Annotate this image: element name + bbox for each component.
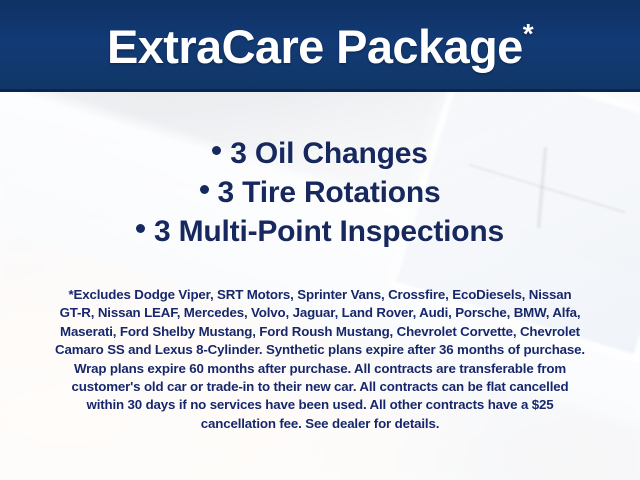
header-banner: ExtraCare Package* [0, 0, 640, 92]
disclaimer-line: Maserati, Ford Shelby Mustang, Ford Rous… [0, 323, 640, 341]
bullet-dot-icon [136, 224, 145, 233]
disclaimer-line: cancellation fee. See dealer for details… [0, 415, 640, 433]
benefits-list: 3 Oil Changes 3 Tire Rotations 3 Multi-P… [0, 134, 640, 251]
disclaimer-line: Wrap plans expire 60 months after purcha… [0, 360, 640, 378]
page-title-text: ExtraCare Package [107, 20, 523, 73]
benefit-label: 3 Multi-Point Inspections [154, 215, 504, 248]
list-item: 3 Tire Rotations [200, 173, 441, 212]
extracare-package-ad: ExtraCare Package* 3 Oil Changes 3 Tire … [0, 0, 640, 480]
title-asterisk: * [523, 18, 533, 49]
disclaimer-line: *Excludes Dodge Viper, SRT Motors, Sprin… [0, 286, 640, 304]
disclaimer-line: customer's old car or trade-in to their … [0, 378, 640, 396]
disclaimer-text: *Excludes Dodge Viper, SRT Motors, Sprin… [0, 286, 640, 433]
disclaimer-line: within 30 days if no services have been … [0, 396, 640, 414]
page-title: ExtraCare Package* [107, 20, 533, 70]
benefit-label: 3 Oil Changes [230, 137, 427, 170]
bullet-dot-icon [200, 185, 209, 194]
list-item: 3 Oil Changes [212, 134, 427, 173]
disclaimer-line: Camaro SS and Lexus 8-Cylinder. Syntheti… [0, 341, 640, 359]
list-item: 3 Multi-Point Inspections [136, 212, 504, 251]
benefit-label: 3 Tire Rotations [218, 176, 441, 209]
disclaimer-line: GT-R, Nissan LEAF, Mercedes, Volvo, Jagu… [0, 304, 640, 322]
bullet-dot-icon [212, 146, 221, 155]
